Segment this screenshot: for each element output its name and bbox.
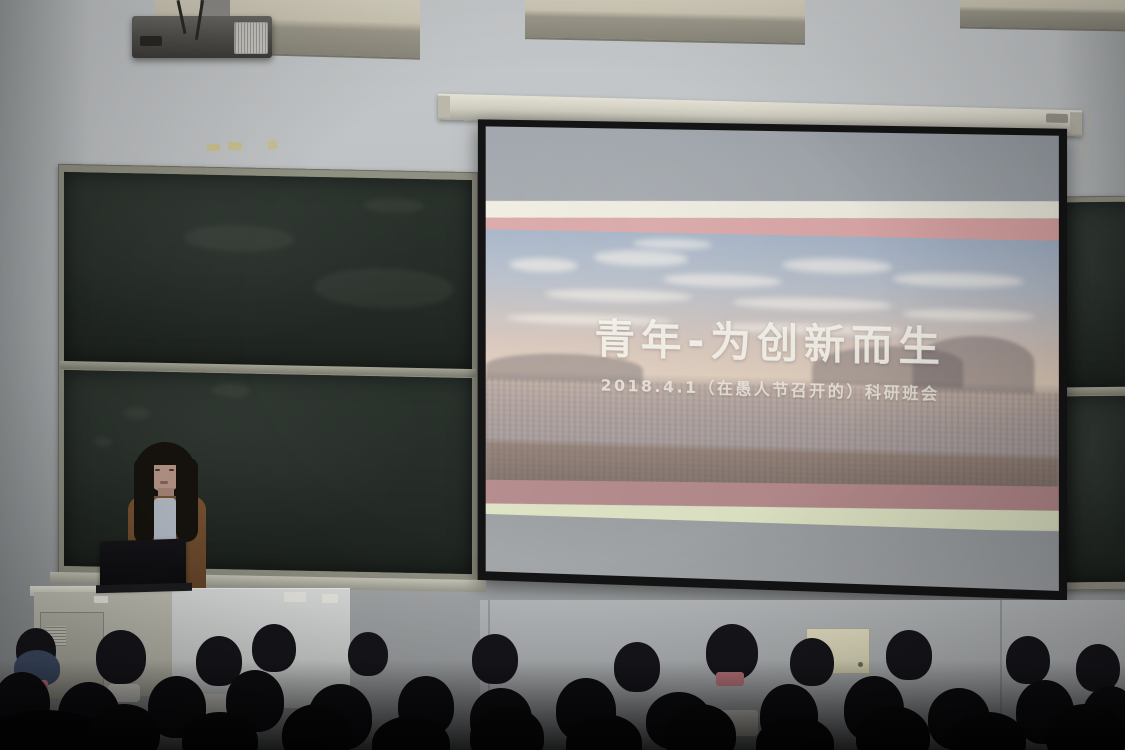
laptop-screen[interactable] [100,538,186,589]
audience [0,600,1125,750]
projector-icon [132,16,272,58]
screen-surface: 青年-为创新而生 2018.4.1（在愚人节召开的）科研班会 [486,126,1059,591]
audience-head [614,642,660,692]
audience-head [348,632,388,676]
ceiling-beam-right [960,0,1125,31]
presentation-slide: 青年-为创新而生 2018.4.1（在愚人节召开的）科研班会 [486,126,1059,591]
audience-head [1076,644,1120,692]
blackboard-right [1058,196,1125,591]
ceiling-beam-center [525,0,805,45]
blackboard-right-panel-upper [1064,202,1125,389]
blackboard-right-panel-lower [1064,396,1125,583]
audience-head [790,638,834,686]
audience-collar-pink [716,672,744,686]
roller-cap-left [438,96,450,118]
blackboard-panel-upper [64,172,472,370]
lecture-hall-scene: 青年-为创新而生 2018.4.1（在愚人节召开的）科研班会 [0,0,1125,750]
audience-head [472,634,518,684]
audience-head [886,630,932,680]
slide-band-cream-top [486,201,1059,219]
presenter-hair-left [134,458,154,544]
audience-head [1006,636,1050,684]
presenter-hair-right [176,458,198,542]
tape-mark-2 [228,141,243,150]
projection-screen[interactable]: 青年-为创新而生 2018.4.1（在愚人节召开的）科研班会 [478,119,1067,600]
blackboard-right-divider [1060,387,1125,396]
tape-mark-1 [207,143,221,151]
roller-cap-right [1070,112,1082,134]
projector-vent-icon [234,22,268,54]
roller-bracket [1046,113,1068,123]
projector-lens-icon [140,36,162,46]
audience-head [96,630,146,684]
projector-mount [200,0,230,16]
presenter-mouth [160,481,168,484]
audience-head [252,624,296,672]
